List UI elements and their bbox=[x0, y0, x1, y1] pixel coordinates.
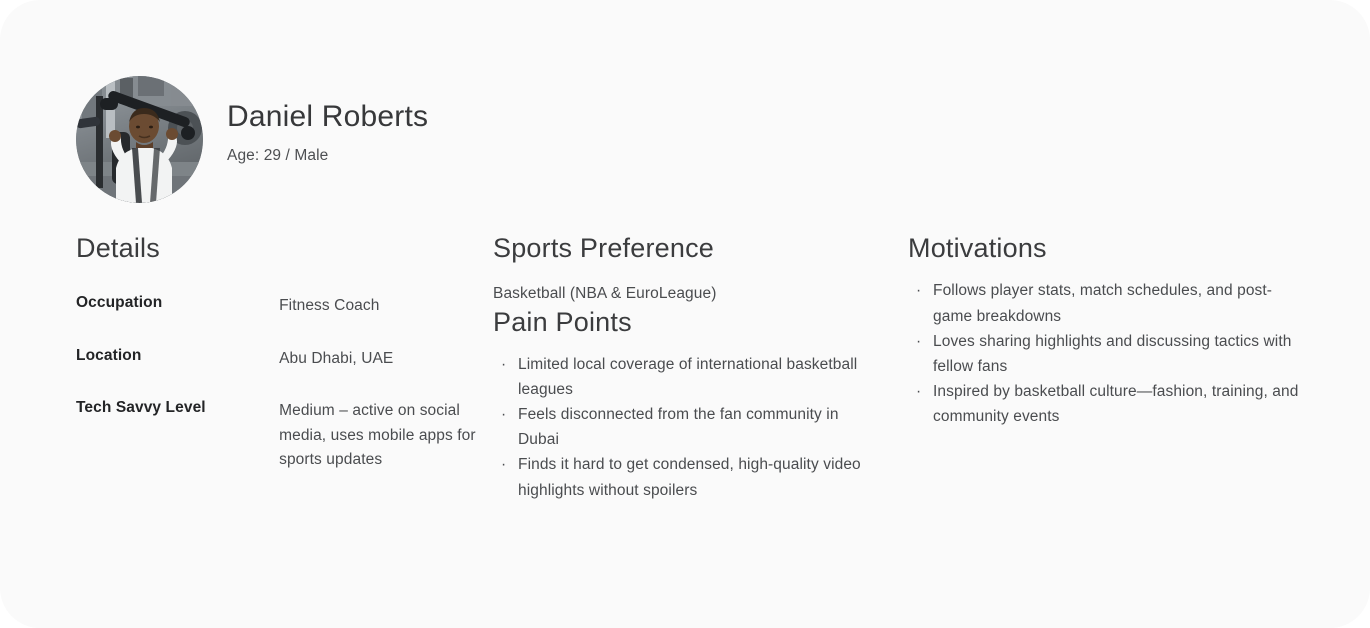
pain-points-list: · Limited local coverage of internationa… bbox=[493, 352, 883, 503]
bullet-icon: · bbox=[916, 379, 921, 404]
motivations-section: Motivations · Follows player stats, matc… bbox=[908, 232, 1303, 429]
list-item-text: Limited local coverage of international … bbox=[518, 356, 857, 398]
bullet-icon: · bbox=[501, 402, 506, 427]
bullet-icon: · bbox=[501, 352, 506, 377]
list-item: · Follows player stats, match schedules,… bbox=[908, 278, 1303, 328]
list-item: · Limited local coverage of internationa… bbox=[493, 352, 883, 402]
list-item: · Finds it hard to get condensed, high-q… bbox=[493, 452, 883, 502]
persona-identity: Daniel Roberts Age: 29 / Male bbox=[227, 76, 428, 165]
details-section: Details Occupation Fitness Coach Locatio… bbox=[76, 232, 476, 473]
detail-label-tech-savvy-level: Tech Savvy Level bbox=[76, 399, 279, 472]
list-item: · Inspired by basketball culture—fashion… bbox=[908, 379, 1303, 429]
bullet-icon: · bbox=[501, 452, 506, 477]
list-item-text: Loves sharing highlights and discussing … bbox=[933, 333, 1291, 375]
list-item: · Loves sharing highlights and discussin… bbox=[908, 329, 1303, 379]
sports-preference-title: Sports Preference bbox=[493, 232, 883, 264]
details-title: Details bbox=[76, 232, 476, 264]
detail-value-tech-savvy-level: Medium – active on social media, uses mo… bbox=[279, 399, 476, 472]
detail-label-location: Location bbox=[76, 347, 279, 399]
detail-label-occupation: Occupation bbox=[76, 294, 279, 346]
list-item-text: Inspired by basketball culture—fashion, … bbox=[933, 383, 1298, 425]
bullet-icon: · bbox=[916, 278, 921, 303]
bullet-icon: · bbox=[916, 329, 921, 354]
detail-value-location: Abu Dhabi, UAE bbox=[279, 347, 476, 399]
list-item-text: Finds it hard to get condensed, high-qua… bbox=[518, 456, 861, 498]
avatar-photo-icon bbox=[76, 76, 203, 203]
list-item-text: Feels disconnected from the fan communit… bbox=[518, 406, 839, 448]
avatar bbox=[76, 76, 203, 203]
persona-header: Daniel Roberts Age: 29 / Male bbox=[76, 76, 428, 203]
table-row: Location Abu Dhabi, UAE bbox=[76, 347, 476, 399]
table-row: Tech Savvy Level Medium – active on soci… bbox=[76, 399, 476, 472]
list-item: · Feels disconnected from the fan commun… bbox=[493, 402, 883, 452]
motivations-title: Motivations bbox=[908, 232, 1303, 264]
table-row: Occupation Fitness Coach bbox=[76, 294, 476, 346]
persona-name: Daniel Roberts bbox=[227, 100, 428, 135]
list-item-text: Follows player stats, match schedules, a… bbox=[933, 282, 1272, 324]
motivations-list: · Follows player stats, match schedules,… bbox=[908, 278, 1303, 429]
pain-points-title: Pain Points bbox=[493, 306, 883, 338]
sports-preference-value: Basketball (NBA & EuroLeague) bbox=[493, 282, 883, 305]
sports-and-pain-section: Sports Preference Basketball (NBA & Euro… bbox=[493, 232, 883, 503]
persona-age-gender: Age: 29 / Male bbox=[227, 147, 428, 165]
persona-card: Daniel Roberts Age: 29 / Male Details Oc… bbox=[0, 0, 1370, 628]
details-table: Occupation Fitness Coach Location Abu Dh… bbox=[76, 294, 476, 472]
detail-value-occupation: Fitness Coach bbox=[279, 294, 476, 346]
